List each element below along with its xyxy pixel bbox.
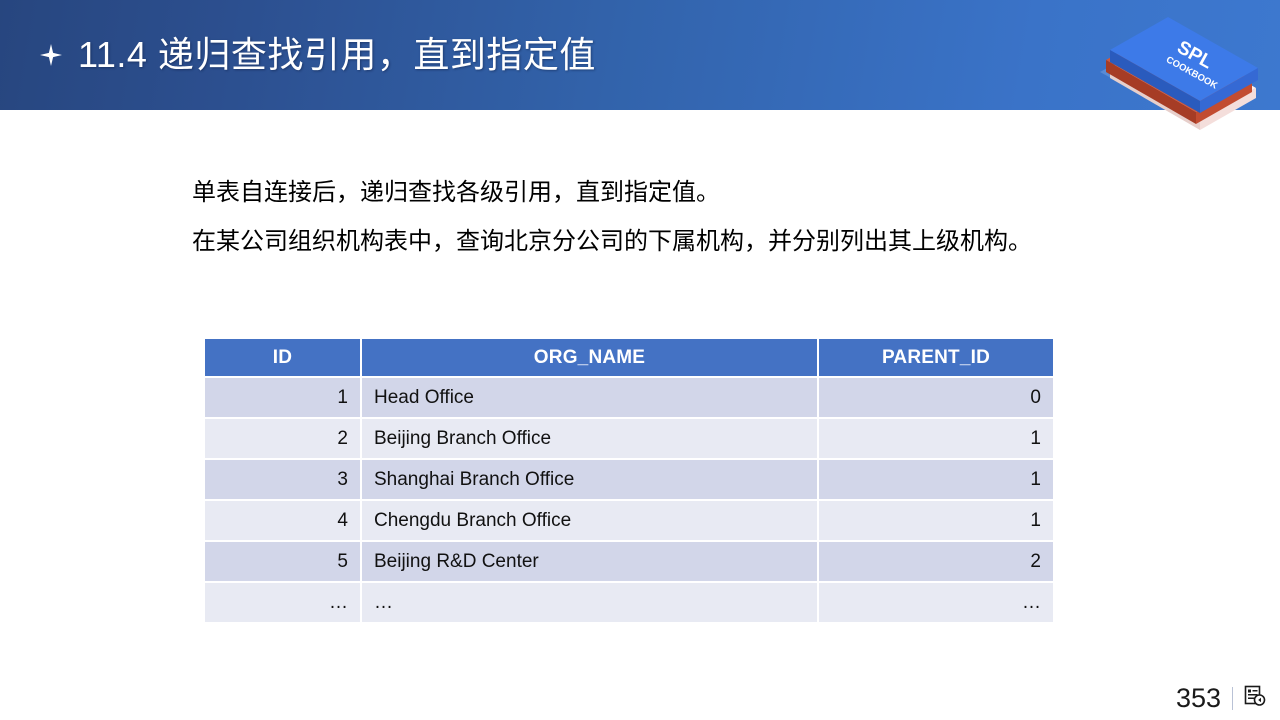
table-row: 5 Beijing R&D Center 2 [205,542,1053,583]
logo-line1: SPL [1173,37,1216,73]
cell-parent-id: 1 [819,501,1053,542]
org-table: ID ORG_NAME PARENT_ID 1 Head Office 0 2 … [205,339,1053,622]
column-header-parent-id: PARENT_ID [819,339,1053,378]
slide-body-text: 单表自连接后，递归查找各级引用，直到指定值。 在某公司组织机构表中，查询北京分公… [192,168,1072,266]
page-number: 353 [1176,685,1232,712]
table-header-row: ID ORG_NAME PARENT_ID [205,339,1053,378]
cell-org-name: Beijing R&D Center [362,542,819,583]
cell-id: … [205,583,362,622]
sparkle-icon [40,44,62,66]
column-header-id: ID [205,339,362,378]
page-title: 11.4 递归查找引用，直到指定值 [78,37,596,73]
cell-id: 4 [205,501,362,542]
body-paragraph-2: 在某公司组织机构表中，查询北京分公司的下属机构，并分别列出其上级机构。 [192,217,1072,266]
cell-parent-id: 1 [819,419,1053,460]
cell-parent-id: 0 [819,378,1053,419]
table-row: 2 Beijing Branch Office 1 [205,419,1053,460]
cell-id: 5 [205,542,362,583]
cell-org-name: Shanghai Branch Office [362,460,819,501]
cell-org-name: Chengdu Branch Office [362,501,819,542]
table-row: 4 Chengdu Branch Office 1 [205,501,1053,542]
cell-parent-id: … [819,583,1053,622]
logo-line2: COOKBOOK [1164,54,1219,91]
table-row: … … … [205,583,1053,622]
column-header-org-name: ORG_NAME [362,339,819,378]
footer-divider [1232,687,1233,710]
slide-footer: 353 [1176,685,1266,712]
cell-org-name: … [362,583,819,622]
table-row: 1 Head Office 0 [205,378,1053,419]
cell-id: 2 [205,419,362,460]
header-inner: 11.4 递归查找引用，直到指定值 [0,0,1100,110]
cell-id: 3 [205,460,362,501]
body-paragraph-1: 单表自连接后，递归查找各级引用，直到指定值。 [192,168,1072,217]
cell-org-name: Beijing Branch Office [362,419,819,460]
document-back-icon[interactable] [1244,685,1266,712]
slide-header: 11.4 递归查找引用，直到指定值 SPL COOKBOOK [0,0,1280,110]
cell-parent-id: 2 [819,542,1053,583]
table-row: 3 Shanghai Branch Office 1 [205,460,1053,501]
cell-id: 1 [205,378,362,419]
cell-org-name: Head Office [362,378,819,419]
cell-parent-id: 1 [819,460,1053,501]
spl-cookbook-book-logo: SPL COOKBOOK [1080,0,1270,130]
